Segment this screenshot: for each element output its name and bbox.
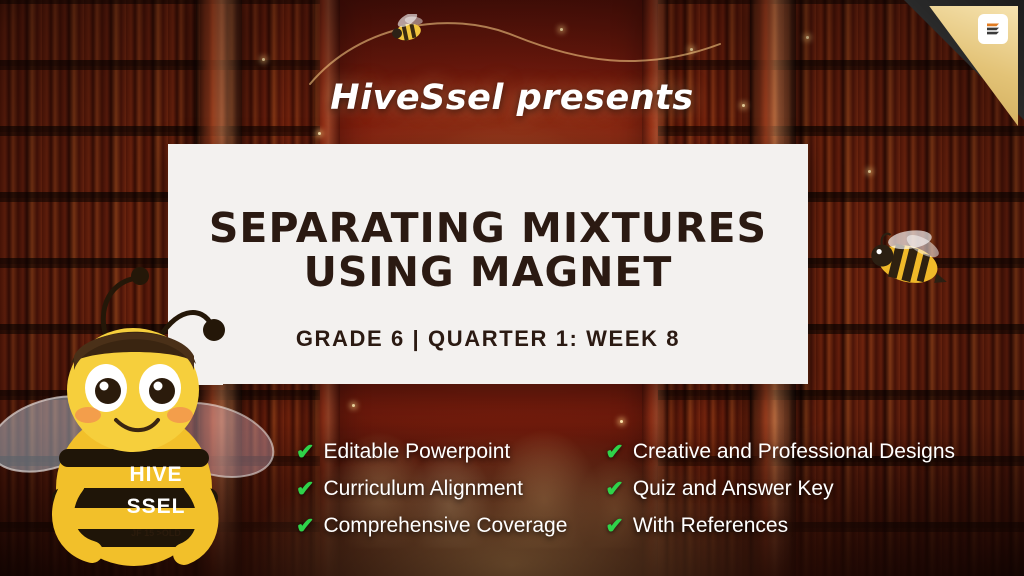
feature-label: With References (633, 514, 788, 538)
feature-label: Comprehensive Coverage (323, 514, 567, 538)
check-icon: ✔ (296, 441, 314, 463)
list-item: ✔ Quiz and Answer Key (605, 477, 955, 501)
list-item: ✔ Curriculum Alignment (296, 477, 567, 501)
title-line-2: USING MAGNET (304, 248, 673, 296)
logo-icon (983, 19, 1003, 39)
list-item: ✔ Comprehensive Coverage (296, 514, 567, 538)
list-item: ✔ Creative and Professional Designs (605, 440, 955, 464)
feature-label: Editable Powerpoint (323, 440, 510, 464)
brand-presents-text: HiveSsel presents (0, 78, 1024, 118)
book-line-3: JF 15 >OLD (114, 529, 198, 538)
check-icon: ✔ (605, 478, 623, 500)
feature-column-right: ✔ Creative and Professional Designs ✔ Qu… (605, 440, 955, 538)
book-line-1: HIVE (114, 464, 198, 485)
feature-list: ✔ Editable Powerpoint ✔ Curriculum Align… (296, 440, 1024, 538)
check-icon: ✔ (605, 515, 623, 537)
check-icon: ✔ (605, 441, 623, 463)
feature-label: Curriculum Alignment (323, 477, 523, 501)
hivessel-logo[interactable] (978, 14, 1008, 44)
bee-mascot: HIVE SSEL JF 15 >OLD (0, 252, 288, 576)
feature-column-left: ✔ Editable Powerpoint ✔ Curriculum Align… (296, 440, 567, 538)
check-icon: ✔ (296, 478, 314, 500)
check-icon: ✔ (296, 515, 314, 537)
slide-canvas: HiveSsel presents SEPARATING MIXTURES US… (0, 0, 1024, 576)
bee-icon (848, 214, 968, 304)
book-line-2: SSEL (114, 496, 198, 517)
feature-label: Creative and Professional Designs (633, 440, 955, 464)
list-item: ✔ Editable Powerpoint (296, 440, 567, 464)
title-line-1: SEPARATING MIXTURES (209, 204, 767, 252)
list-item: ✔ With References (605, 514, 955, 538)
feature-label: Quiz and Answer Key (633, 477, 834, 501)
